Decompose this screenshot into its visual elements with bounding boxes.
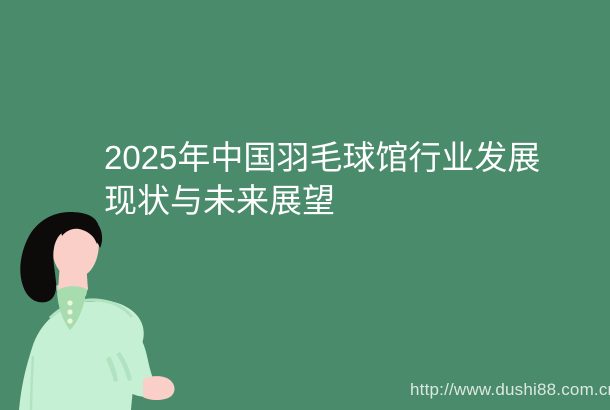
hand-shape [143,376,175,400]
watermark-url: http://www.dushi88.com.cn [410,380,610,400]
button-2-icon [67,309,72,314]
button-1-icon [67,300,72,305]
article-cover-banner: 2025年中国羽毛球馆行业发展现状与未来展望 http://www.dushi8… [0,0,610,410]
page-title: 2025年中国羽毛球馆行业发展现状与未来展望 [104,136,556,222]
button-3-icon [67,318,72,323]
